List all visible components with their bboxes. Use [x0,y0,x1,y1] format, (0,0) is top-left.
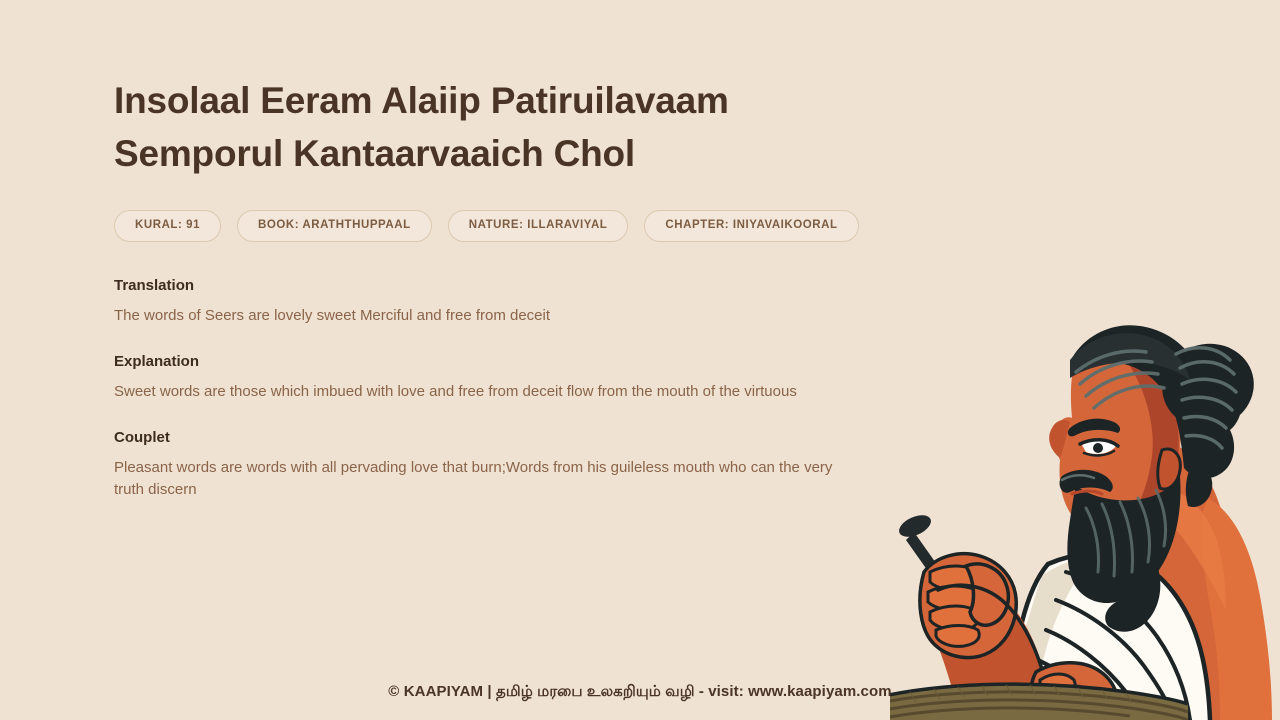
metadata-badges: KURAL: 91 BOOK: ARATHTHUPPAAL NATURE: IL… [114,210,904,242]
kural-card: Insolaal Eeram Alaiip Patiruilavaam Semp… [0,0,1280,720]
title-line-2: Semporul Kantaarvaaich Chol [114,133,635,174]
section-couplet: Couplet Pleasant words are words with al… [114,429,904,501]
page-title: Insolaal Eeram Alaiip Patiruilavaam Semp… [114,74,754,180]
badge-nature[interactable]: NATURE: ILLARAVIYAL [448,210,629,242]
translation-text: The words of Seers are lovely sweet Merc… [114,305,859,327]
translation-heading: Translation [114,277,904,294]
badge-kural[interactable]: KURAL: 91 [114,210,221,242]
couplet-heading: Couplet [114,429,904,446]
thiruvalluvar-writing-illustration [890,300,1280,720]
title-line-1: Insolaal Eeram Alaiip Patiruilavaam [114,80,729,121]
section-explanation: Explanation Sweet words are those which … [114,353,904,403]
explanation-heading: Explanation [114,353,904,370]
footer-credit: © KAAPIYAM | தமிழ் மரபை உலகறியும் வழி - … [0,683,1280,702]
couplet-text: Pleasant words are words with all pervad… [114,457,854,501]
badge-chapter[interactable]: CHAPTER: INIYAVAIKOORAL [644,210,858,242]
badge-book[interactable]: BOOK: ARATHTHUPPAAL [237,210,432,242]
section-translation: Translation The words of Seers are lovel… [114,277,904,327]
explanation-text: Sweet words are those which imbued with … [114,381,859,403]
kural-content: Insolaal Eeram Alaiip Patiruilavaam Semp… [114,74,904,501]
